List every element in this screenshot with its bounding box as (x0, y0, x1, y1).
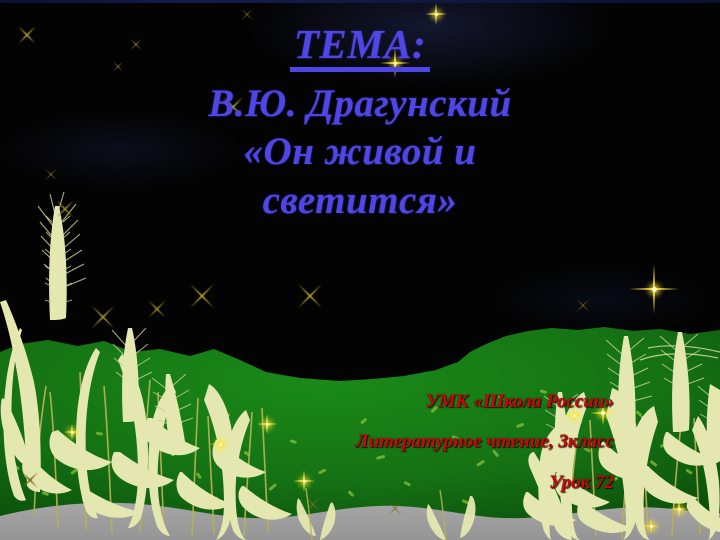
title-work-line-2: светится» (0, 181, 720, 221)
title-work-line-1: «Он живой и (0, 132, 720, 172)
footer-subject: Литературное чтение, 3класс (184, 432, 614, 451)
footer-block: УМК «Школа России» Литературное чтение, … (184, 392, 614, 492)
title-heading: ТЕМА: (290, 24, 430, 72)
footer-lesson: Урок 72 (184, 473, 614, 492)
presentation-slide: ТЕМА: В.Ю. Драгунский «Он живой и светит… (0, 0, 720, 540)
title-author: В.Ю. Драгунский (0, 84, 720, 124)
footer-program: УМК «Школа России» (184, 392, 614, 411)
title-block: ТЕМА: В.Ю. Драгунский «Он живой и светит… (0, 24, 720, 221)
